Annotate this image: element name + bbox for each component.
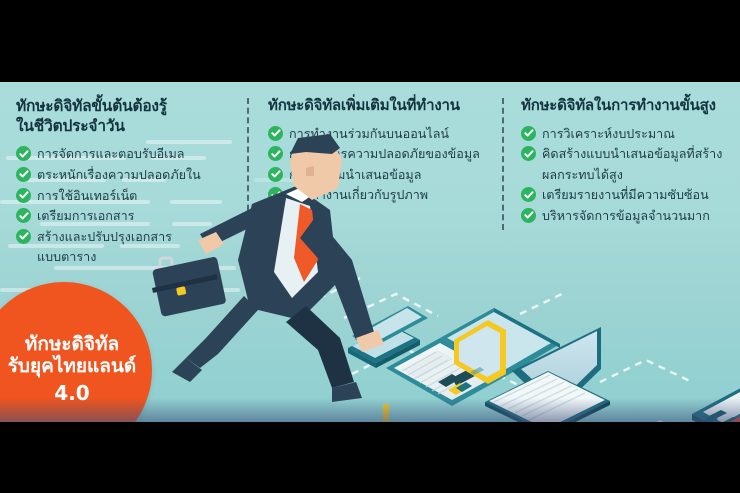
list-item: การทำงานเกี่ยวกับรูปภาพ [268, 186, 493, 204]
list-item-continuation: แบบตาราง [16, 248, 236, 266]
check-icon [521, 187, 536, 202]
list-item: คิดสร้างแบบนำเสนอข้อมูลที่สร้าง [521, 145, 732, 163]
column-advanced-title: ทักษะดิจิทัลในการทำงานขั้นสูง [521, 96, 732, 116]
check-icon [16, 167, 31, 182]
list-item: การวิเคราะห์งบประมาณ [521, 125, 732, 143]
list-item-label: ตระหนักเรื่องความปลอดภัยใน [37, 166, 201, 184]
ground-band [0, 398, 740, 422]
list-item-continuation: ผลกระทบได้สูง [521, 166, 732, 184]
list-item: การทำงานร่วมกันบนออนไลน์ [268, 125, 493, 143]
check-icon [268, 126, 283, 141]
list-item-label: การวิเคราะห์งบประมาณ [542, 125, 675, 143]
check-icon [521, 208, 536, 223]
speed-line [180, 288, 240, 292]
list-item-label: ผลกระทบได้สูง [542, 166, 623, 184]
list-item: การจัดการและตอบรับอีเมล [16, 145, 236, 163]
column-basic-skills: ทักษะดิจิทัลขั้นต้นต้องรู้ ในชีวิตประจำว… [0, 82, 250, 262]
check-icon [16, 229, 31, 244]
letterbox-top [0, 0, 740, 82]
connector-paths [324, 278, 692, 400]
list-item-label: การเตรียมนำเสนอข้อมูล [289, 166, 421, 184]
list-item: เตรียมการเอกสาร [16, 207, 236, 225]
column-basic-list: การจัดการและตอบรับอีเมล ตระหนักเรื่องควา… [16, 145, 236, 266]
check-icon [521, 146, 536, 161]
check-icon [268, 146, 283, 161]
smartphone-device [348, 325, 420, 368]
monitor-final [556, 320, 654, 404]
check-icon [268, 187, 283, 202]
list-item-label: บริหารจัดการข้อมูลจำนวนมาก [542, 207, 710, 225]
list-item-label: เตรียมรายงานที่มีความซับซ้อน [542, 186, 709, 204]
list-item-label: การทำงานร่วมกันบนออนไลน์ [289, 125, 449, 143]
check-icon [16, 146, 31, 161]
speed-line [54, 266, 172, 270]
list-item-label: การจัดการและตอบรับอีเมล [37, 145, 184, 163]
column-workplace-list: การทำงานร่วมกันบนออนไลน์ การบริหารความปล… [268, 125, 493, 204]
column-advanced-skills: ทักษะดิจิทัลในการทำงานขั้นสูง การวิเคราะ… [505, 82, 740, 262]
column-divider-2 [502, 98, 504, 230]
list-item-label: คิดสร้างแบบนำเสนอข้อมูลที่สร้าง [542, 145, 722, 163]
infographic-canvas: ทักษะดิจิทัลขั้นต้นต้องรู้ ในชีวิตประจำว… [0, 82, 740, 422]
infographic-stage: ทักษะดิจิทัลขั้นต้นต้องรู้ ในชีวิตประจำว… [0, 0, 740, 493]
tablet-device [352, 306, 428, 348]
list-item: เตรียมรายงานที่มีความซับซ้อน [521, 186, 732, 204]
yellow-phone-device [454, 320, 506, 384]
list-item-label: แบบตาราง [37, 248, 96, 266]
memory-card-icons [438, 374, 472, 395]
list-item-label: เตรียมการเอกสาร [37, 207, 134, 225]
speed-line [188, 266, 236, 270]
letterbox-bottom [0, 422, 740, 493]
badge-line-2: รับยุคไทยแลนด์ [8, 356, 137, 378]
list-item: การใช้อินเทอร์เน็ต [16, 187, 236, 205]
check-icon [521, 126, 536, 141]
column-advanced-list: การวิเคราะห์งบประมาณ คิดสร้างแบบนำเสนอข้… [521, 125, 732, 225]
list-item: การบริหารความปลอดภัยของข้อมูล [268, 145, 493, 163]
column-workplace-skills: ทักษะดิจิทัลเพิ่มเติมในที่ทำงาน การทำงาน… [250, 82, 505, 262]
check-icon [16, 188, 31, 203]
check-icon [16, 208, 31, 223]
check-icon [268, 167, 283, 182]
list-item-label: การบริหารความปลอดภัยของข้อมูล [289, 145, 480, 163]
list-item-label: การทำงานเกี่ยวกับรูปภาพ [289, 186, 428, 204]
list-item-label: สร้างและปรับปรุงเอกสาร [37, 228, 172, 246]
list-item: ตระหนักเรื่องความปลอดภัยใน [16, 166, 236, 184]
laptop-device [386, 308, 560, 406]
skill-columns: ทักษะดิจิทัลขั้นต้นต้องรู้ ในชีวิตประจำว… [0, 82, 740, 262]
list-item: สร้างและปรับปรุงเอกสาร [16, 228, 236, 246]
list-item: บริหารจัดการข้อมูลจำนวนมาก [521, 207, 732, 225]
list-item: การเตรียมนำเสนอข้อมูล [268, 166, 493, 184]
column-divider-1 [247, 98, 249, 230]
list-item-label: การใช้อินเทอร์เน็ต [37, 187, 137, 205]
column-basic-title: ทักษะดิจิทัลขั้นต้นต้องรู้ ในชีวิตประจำว… [16, 96, 236, 136]
badge-line-1: ทักษะดิจิทัล [25, 334, 119, 356]
column-workplace-title: ทักษะดิจิทัลเพิ่มเติมในที่ทำงาน [268, 96, 493, 116]
